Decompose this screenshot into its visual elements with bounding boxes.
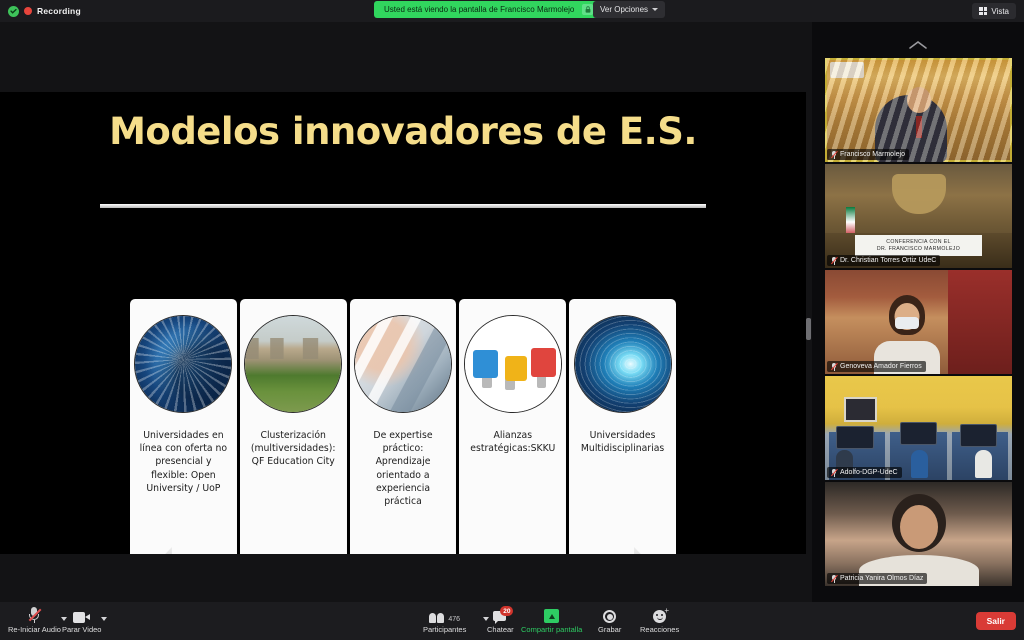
- video-tile[interactable]: CONFERENCIA CON EL DR. FRANCISCO MARMOLE…: [825, 164, 1012, 268]
- shared-screen-stage: Modelos innovadores de E.S. Universidade…: [0, 22, 812, 602]
- model-card: Clusterización (multiversidades): QF Edu…: [240, 299, 347, 554]
- banner-line-2: DR. FRANCISCO MARMOLEJO: [877, 246, 960, 252]
- model-card-text: De expertise práctico: Aprendizaje orien…: [350, 429, 457, 508]
- presentation-slide: Modelos innovadores de E.S. Universidade…: [0, 92, 806, 554]
- arrow-left-head-icon: [148, 547, 194, 554]
- model-card: Alianzas estratégicas:SKKU: [459, 299, 566, 554]
- mic-muted-icon: [831, 363, 837, 371]
- model-card-text: Alianzas estratégicas:SKKU: [459, 429, 566, 455]
- video-tile[interactable]: Adolfo-DGP-UdeC: [825, 376, 1012, 480]
- mic-muted-icon: [831, 257, 837, 265]
- participant-video-sidebar: Francisco Marmolejo CONFERENCIA CON EL D…: [812, 22, 1024, 602]
- video-tile-list: Francisco Marmolejo CONFERENCIA CON EL D…: [825, 58, 1012, 588]
- model-cards-row: Universidades en línea con oferta no pre…: [130, 299, 676, 554]
- participants-icon: 476: [429, 606, 460, 623]
- participants-count: 476: [448, 616, 460, 623]
- chat-button[interactable]: 20 Chatear: [487, 606, 514, 634]
- chat-icon: 20: [493, 606, 507, 623]
- participant-name: Patricia Yanira Olmos Díaz: [840, 575, 923, 582]
- participant-name-tag: Adolfo-DGP-UdeC: [827, 467, 902, 478]
- chat-unread-badge: 20: [500, 606, 513, 616]
- puzzle-pieces-icon: [464, 315, 562, 413]
- top-bar: Recording Usted está viendo la pantalla …: [0, 0, 1024, 22]
- recording-label: Recording: [37, 6, 81, 16]
- video-tile[interactable]: Genoveva Amador Fierros: [825, 270, 1012, 374]
- title-divider: [100, 204, 706, 208]
- mic-muted-icon: [831, 151, 837, 159]
- vista-button[interactable]: Vista: [972, 3, 1016, 19]
- model-card: De expertise práctico: Aprendizaje orien…: [350, 299, 457, 554]
- video-button[interactable]: Parar Video: [62, 606, 101, 634]
- view-options-button[interactable]: Ver Opciones: [593, 1, 665, 18]
- audio-label: Re-Iniciar Audio: [8, 625, 61, 634]
- robot-hand-icon: [354, 315, 452, 413]
- participant-name-tag: Dr. Christian Torres Ortiz UdeC: [827, 255, 940, 266]
- recording-dot-icon: [24, 7, 32, 15]
- participants-button[interactable]: 476 Participantes: [423, 606, 466, 634]
- chevron-down-icon: [652, 8, 658, 11]
- participant-name: Dr. Christian Torres Ortiz UdeC: [840, 257, 936, 264]
- wall-picture-frame: [844, 397, 878, 422]
- vista-label: Vista: [991, 7, 1009, 16]
- mic-muted-icon: [831, 469, 837, 477]
- mic-muted-icon: [29, 606, 40, 623]
- lock-icon: [582, 4, 593, 15]
- participant-name: Francisco Marmolejo: [840, 151, 905, 158]
- recording-indicator: Recording: [0, 6, 81, 17]
- grid-view-icon: [979, 7, 987, 15]
- video-overlay-logo: [830, 62, 864, 78]
- participants-label: Participantes: [423, 625, 466, 634]
- scroll-up-button[interactable]: [812, 32, 1024, 58]
- share-screen-icon: [544, 606, 559, 623]
- participant-name: Adolfo-DGP-UdeC: [840, 469, 898, 476]
- share-screen-button[interactable]: Compartir pantalla: [521, 606, 582, 634]
- record-label: Grabar: [598, 625, 621, 634]
- model-card: Universidades Multidisciplinarias: [569, 299, 676, 554]
- reactions-button[interactable]: + Reacciones: [640, 606, 679, 634]
- crest-emblem-icon: [892, 174, 946, 214]
- model-card: Universidades en línea con oferta no pre…: [130, 299, 237, 554]
- model-card-text: Universidades en línea con oferta no pre…: [130, 429, 237, 495]
- screen-share-banner-text: Usted está viendo la pantalla de Francis…: [384, 5, 574, 14]
- reactions-label: Reacciones: [640, 625, 679, 634]
- face-mask-icon: [895, 317, 919, 329]
- participant-name-tag: Patricia Yanira Olmos Díaz: [827, 573, 927, 584]
- leave-meeting-button[interactable]: Salir: [976, 612, 1016, 630]
- participant-name-tag: Francisco Marmolejo: [827, 149, 909, 160]
- meeting-toolbar: Re-Iniciar Audio Parar Video 476 Partici…: [0, 602, 1024, 640]
- participant-name-tag: Genoveva Amador Fierros: [827, 361, 926, 372]
- video-tile[interactable]: Patricia Yanira Olmos Díaz: [825, 482, 1012, 586]
- slide-title: Modelos innovadores de E.S.: [0, 110, 806, 153]
- double-headed-arrow: [148, 547, 658, 554]
- mic-muted-icon: [831, 575, 837, 583]
- encryption-shield-icon[interactable]: [8, 6, 19, 17]
- conference-banner: CONFERENCIA CON EL DR. FRANCISCO MARMOLE…: [855, 235, 982, 256]
- screen-share-banner: Usted está viendo la pantalla de Francis…: [374, 1, 599, 18]
- network-globe-icon: [134, 315, 232, 413]
- shared-screen-scrollbar[interactable]: [806, 318, 811, 340]
- arrow-right-head-icon: [612, 547, 658, 554]
- record-icon: [603, 606, 616, 623]
- model-card-text: Universidades Multidisciplinarias: [569, 429, 676, 455]
- view-options-label: Ver Opciones: [600, 5, 648, 14]
- zoom-meeting-window: Recording Usted está viendo la pantalla …: [0, 0, 1024, 640]
- campus-aerial-icon: [244, 315, 342, 413]
- camera-icon: [73, 606, 90, 623]
- participant-name: Genoveva Amador Fierros: [840, 363, 922, 370]
- model-card-text: Clusterización (multiversidades): QF Edu…: [240, 429, 347, 469]
- banner-line-1: CONFERENCIA CON EL: [886, 239, 951, 245]
- record-button[interactable]: Grabar: [598, 606, 621, 634]
- video-label: Parar Video: [62, 625, 101, 634]
- video-options-chevron-icon[interactable]: [101, 617, 107, 621]
- reactions-icon: +: [653, 606, 666, 623]
- video-tile[interactable]: Francisco Marmolejo: [825, 58, 1012, 162]
- chat-label: Chatear: [487, 625, 514, 634]
- share-screen-label: Compartir pantalla: [521, 625, 582, 634]
- audio-button[interactable]: Re-Iniciar Audio: [8, 606, 61, 634]
- digital-tunnel-icon: [574, 315, 672, 413]
